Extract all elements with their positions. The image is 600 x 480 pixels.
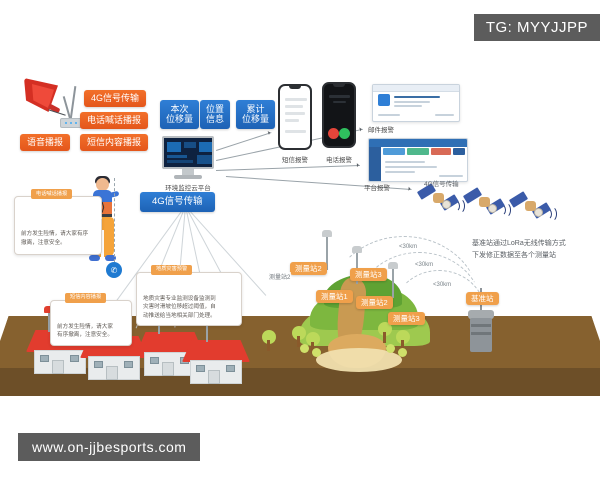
sms-line [285,98,307,101]
bubble-cap-label: 电话喊话播报 [31,189,72,199]
station-label: 测量站3 [350,268,387,281]
antenna-icon [70,86,76,120]
house-door [208,370,220,384]
sms-line [285,119,299,122]
mail-footer-line [378,114,400,116]
broadcast-speech-bubble: 电话喊话播报 前方发生险情，请大家有序 撤离，注意安全。 [14,196,102,255]
station-label: 测量站1 [316,290,353,303]
email-alert-window [372,84,460,122]
platform-alert-window [368,138,468,182]
monitor-screen [162,136,214,169]
call-title [329,95,350,98]
satellite [418,184,458,214]
house-window [70,355,79,362]
screen-widget [184,142,196,148]
phone-call-icon: ✆ [106,262,122,278]
chip-line-2: 位移量 [166,114,193,124]
signal-wave-icon [545,206,557,222]
house-door [52,360,64,374]
station-label: 测量站2 [356,296,393,309]
window-sidebar [369,147,381,181]
data-chip-displacement-current: 本次 位移量 [160,100,199,129]
antenna-head-icon [352,246,362,253]
bush [312,348,321,357]
house-roof [182,340,250,362]
call-alert-caption: 电话报警 [312,154,366,164]
phone-notch [289,86,301,89]
bush [386,344,395,353]
connector-arrow [216,132,271,151]
house-window [196,365,205,372]
lora-note: 基准站通过LoRa无线传输方式 下发修正数据至各个测量站 [472,238,598,262]
bubble-tail [97,213,107,223]
chip-line-1: 本次 [166,104,193,114]
base-station-label: 基准站 [466,292,499,305]
chip-line-2: 信息 [206,114,224,124]
content-line [385,171,415,173]
mail-subject-line [394,96,440,98]
broadcast-label-call: 电话喊话播报 [80,112,148,129]
antenna-head-icon [322,230,332,237]
house-window [40,355,49,362]
sms-line [285,105,303,108]
shoe [89,255,100,261]
broadcast-label-voice: 语音播报 [20,134,70,151]
callout-cap-label: 短信内容播报 [65,293,106,303]
router-led [70,122,72,124]
house [186,340,246,384]
callout-text: 地质灾害专业监测设备监测到 灾害时滑坡位移超过阈值，自 动推送给当地相关部门处理… [143,296,216,319]
chip-line-2: 位移量 [242,114,269,124]
satellite [464,188,504,218]
window-titlebar [369,139,467,147]
bush [398,348,407,357]
callout-cap-label: 地质灾害预警 [151,265,192,275]
mail-body-line [394,101,430,103]
site-watermark-badge: www.on-jjbesports.com [18,433,200,461]
chip-line-1: 累计 [242,104,269,114]
infographic-canvas: <30km <30km <30km 测量站1 测量站2 测量站3 测量站2 测量… [0,0,600,480]
station-label: 测量站3 [388,312,425,325]
content-line [439,175,463,177]
tree [378,322,392,342]
monitor-base [174,175,202,179]
broadcast-label-sms: 短信内容播报 [80,134,148,151]
nav-chip [431,148,451,155]
phone-link-dashed-line [114,178,115,262]
signal-note-label: 4G信号传输 [424,178,459,188]
accept-call-button[interactable] [339,128,350,139]
email-alert-caption: 邮件报警 [368,124,418,134]
scene: <30km <30km <30km 测量站1 测量站2 测量站3 测量站2 测量… [0,0,600,400]
house-window [226,365,235,372]
data-chip-position: 位置 信息 [200,100,230,129]
screen-widget [199,142,212,152]
sms-alert-phone [278,84,312,150]
mail-icon [378,94,390,106]
window-titlebar [373,85,459,92]
screen-widget [167,155,187,158]
screen-widget [167,142,181,152]
monitor-caption: 环境监控云平台 [152,182,224,192]
sms-line [285,130,306,133]
call-alert-phone [322,82,356,148]
nav-chip [407,148,429,155]
connector-arrow [216,165,360,171]
screen-widget [167,160,193,163]
data-chip-displacement-total: 累计 位移量 [236,100,275,129]
distance-label: <30km [398,244,418,250]
content-line [385,161,425,163]
bubble-text: 前方发生险情，请大家有序 撤离，注意安全。 [21,231,88,246]
mail-body-line [394,105,422,107]
sms-line [285,112,305,115]
house-window [124,361,133,368]
nav-chip [383,148,405,155]
station-side-label: 测量站2 [268,272,291,281]
mail-footer-line [435,114,454,116]
tree [292,326,306,346]
transmission-badge-4g: 4G信号传输 [140,192,215,212]
content-line [385,166,437,168]
megaphone-icon [24,78,66,124]
base-station-tower [470,318,492,352]
village-callout-warning: 地质灾害预警 地质灾害专业监测设备监测到 灾害时滑坡位移超过阈值，自 动推送给当… [136,272,242,326]
station-label: 测量站2 [290,262,327,275]
tree [396,330,410,350]
lora-note-line1: 基准站通过LoRa无线传输方式 [472,238,598,250]
satellite [510,192,550,222]
distance-label: <30km [432,282,452,288]
cloud-platform-monitor [162,136,214,180]
house-window [94,361,103,368]
nav-chip [453,148,465,155]
broadcast-label-4g: 4G信号传输 [84,90,146,107]
router-led [65,122,67,124]
callout-text: 前方发生险情，请大家 有序撤离，注意安全。 [57,324,113,338]
router-led [75,122,77,124]
phone-notch [333,84,345,87]
distance-label: <30km [414,262,434,268]
chip-line-1: 位置 [206,104,224,114]
lora-note-line2: 下发修正数据至各个测量站 [472,250,598,262]
screen-widget [197,155,212,164]
house-door [106,366,118,380]
bush [300,344,309,353]
platform-alert-caption: 平台报警 [364,182,414,192]
village-callout-sms: 短信内容播报 前方发生险情，请大家 有序撤离，注意安全。 [50,300,132,346]
call-sub [333,101,346,103]
house-window [150,357,159,364]
antenna-head-icon [388,262,398,269]
tree [262,330,276,350]
decline-call-button[interactable] [328,128,339,139]
house-door [162,362,174,376]
station-mast [392,268,394,298]
tg-watermark-badge: TG: MYYJJPP [474,14,600,41]
